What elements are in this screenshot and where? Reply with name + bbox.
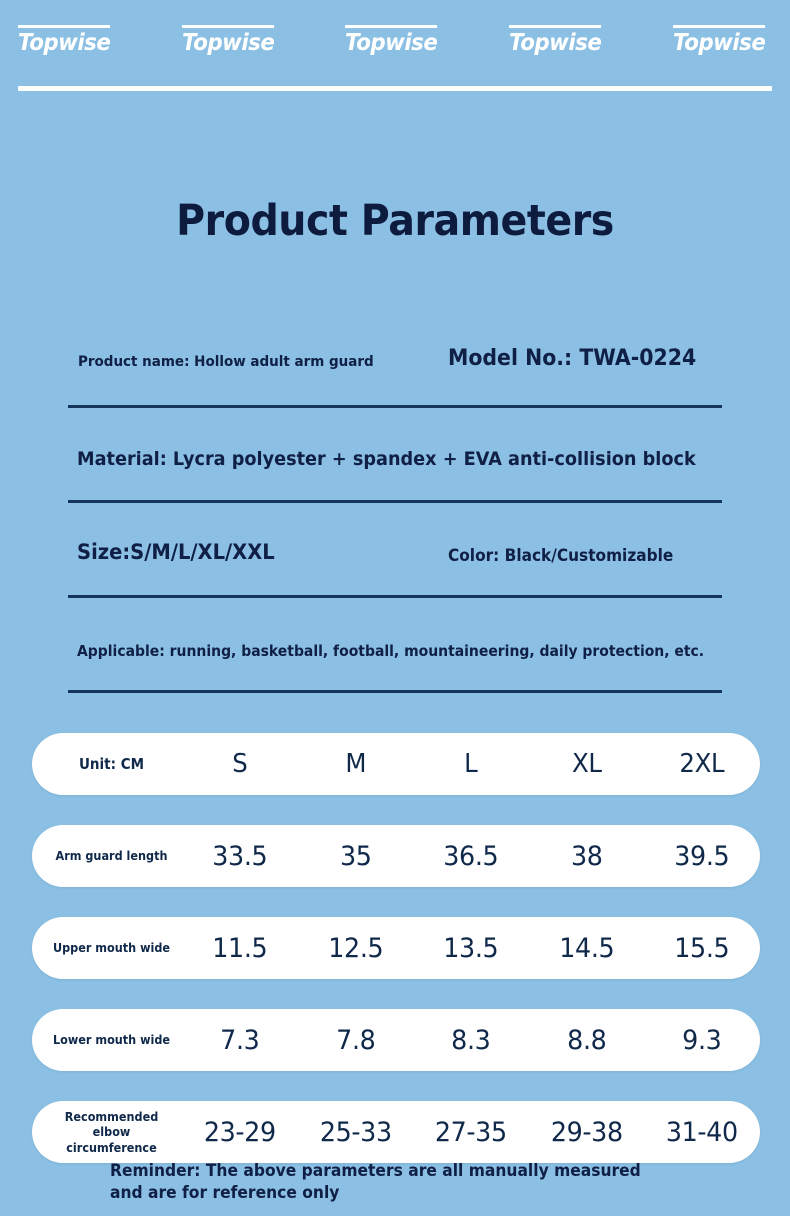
table-cell: 15.5 xyxy=(648,933,757,964)
column-header-xl: XL xyxy=(532,749,641,779)
spec-divider xyxy=(68,690,722,693)
table-cell: 29-38 xyxy=(532,1117,641,1148)
table-cell: 8.3 xyxy=(417,1025,526,1056)
table-cell: 31-40 xyxy=(648,1117,757,1148)
table-cell: 25-33 xyxy=(301,1117,410,1148)
brand-logo: Topwise xyxy=(18,25,110,55)
page-title: Product Parameters xyxy=(32,196,759,246)
table-row: Lower mouth wide 7.3 7.8 8.3 8.8 9.3 xyxy=(32,1009,760,1071)
brand-logo: Topwise xyxy=(509,25,601,55)
table-cell: 36.5 xyxy=(417,841,526,872)
spec-divider xyxy=(68,595,722,598)
spec-divider xyxy=(68,500,722,503)
column-header-s: S xyxy=(185,749,294,779)
column-header-l: L xyxy=(417,749,526,779)
reminder-text: Reminder: The above parameters are all m… xyxy=(110,1160,674,1205)
table-header-row: Unit: CM S M L XL 2XL xyxy=(32,733,760,795)
product-name-text: Product name: Hollow adult arm guard xyxy=(78,354,374,370)
table-cell: 23-29 xyxy=(185,1117,294,1148)
row-label: Upper mouth wide xyxy=(40,940,175,956)
table-cell: 27-35 xyxy=(417,1117,526,1148)
brand-logo-row: Topwise Topwise Topwise Topwise Topwise xyxy=(14,0,776,80)
model-no-text: Model No.: TWA-0224 xyxy=(448,346,696,371)
row-label: Arm guard length xyxy=(40,848,175,864)
table-cell: 8.8 xyxy=(532,1025,641,1056)
brand-strip: Topwise Topwise Topwise Topwise Topwise xyxy=(0,0,790,112)
column-header-m: M xyxy=(301,749,410,779)
brand-logo: Topwise xyxy=(673,25,765,55)
spec-block: Product name: Hollow adult arm guard Mod… xyxy=(0,340,790,720)
table-cell: 38 xyxy=(532,841,641,872)
table-row: Arm guard length 33.5 35 36.5 38 39.5 xyxy=(32,825,760,887)
table-row: Recommended elbow circumference 23-29 25… xyxy=(32,1101,760,1163)
applicable-text: Applicable: running, basketball, footbal… xyxy=(77,642,704,660)
table-cell: 39.5 xyxy=(648,841,757,872)
brand-logo: Topwise xyxy=(345,25,437,55)
spec-row-product-name: Product name: Hollow adult arm guard Mod… xyxy=(0,340,790,435)
table-row: Upper mouth wide 11.5 12.5 13.5 14.5 15.… xyxy=(32,917,760,979)
size-table: Unit: CM S M L XL 2XL Arm guard length 3… xyxy=(32,733,760,1193)
table-cell: 14.5 xyxy=(532,933,641,964)
table-cell: 12.5 xyxy=(301,933,410,964)
spec-row-applicable: Applicable: running, basketball, footbal… xyxy=(0,625,790,720)
table-cell: 13.5 xyxy=(417,933,526,964)
material-text: Material: Lycra polyester + spandex + EV… xyxy=(77,448,696,470)
spec-row-size-color: Size:S/M/L/XL/XXL Color: Black/Customiza… xyxy=(0,530,790,625)
size-text: Size:S/M/L/XL/XXL xyxy=(77,540,275,564)
unit-label: Unit: CM xyxy=(40,755,175,774)
table-cell: 7.8 xyxy=(301,1025,410,1056)
row-label: Lower mouth wide xyxy=(40,1032,175,1048)
column-header-2xl: 2XL xyxy=(648,749,757,779)
spec-divider xyxy=(68,405,722,408)
row-label: Recommended elbow circumference xyxy=(40,1109,175,1156)
table-cell: 33.5 xyxy=(185,841,294,872)
spec-row-material: Material: Lycra polyester + spandex + EV… xyxy=(0,435,790,530)
table-cell: 35 xyxy=(301,841,410,872)
table-cell: 11.5 xyxy=(185,933,294,964)
brand-logo: Topwise xyxy=(182,25,274,55)
brand-underline-rule xyxy=(18,86,772,91)
table-cell: 9.3 xyxy=(648,1025,757,1056)
table-cell: 7.3 xyxy=(185,1025,294,1056)
color-text: Color: Black/Customizable xyxy=(448,546,673,565)
